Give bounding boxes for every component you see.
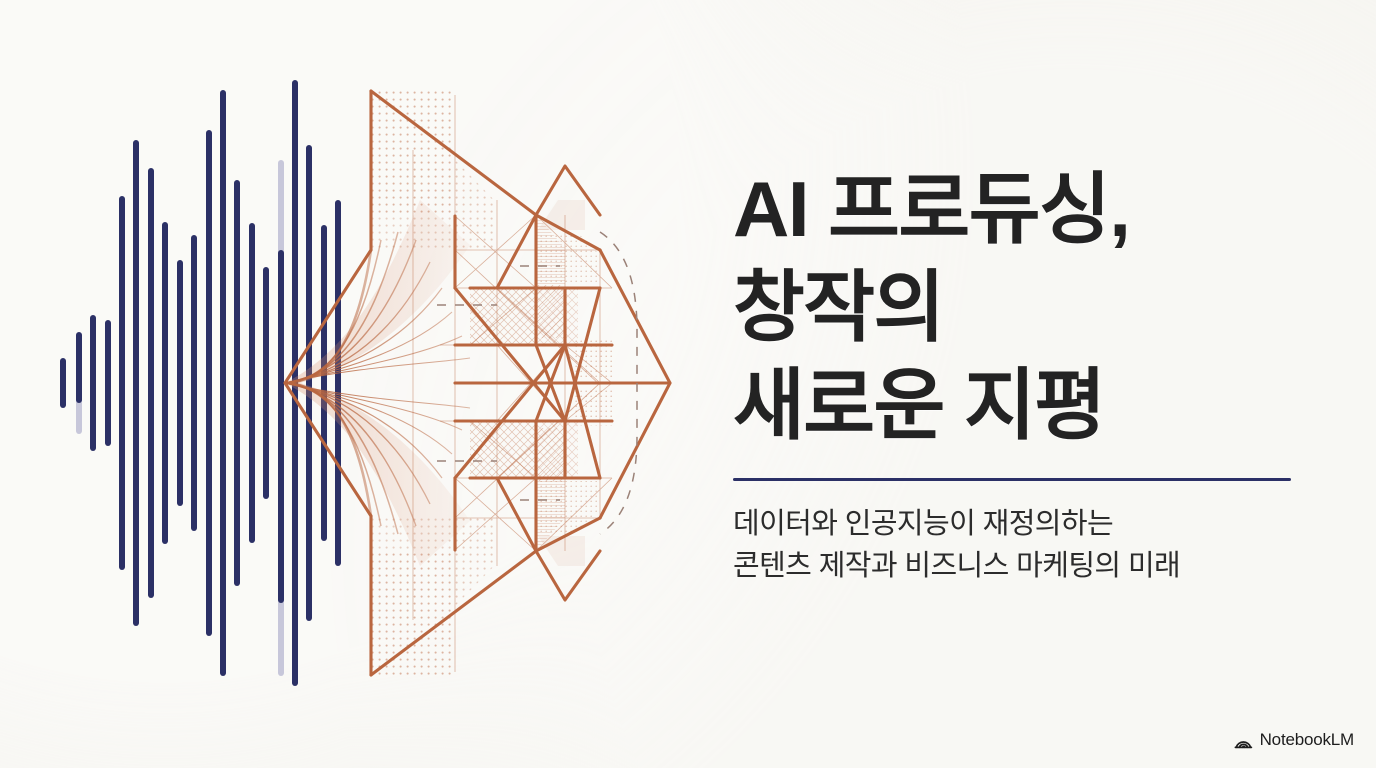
title-line-2: 창작의 [733, 258, 1333, 356]
geometric-lattice-icon [285, 91, 670, 675]
lattice-main-outline [285, 91, 670, 675]
subtitle-line-2: 콘텐츠 제작과 비즈니스 마케팅의 미래 [733, 545, 1333, 587]
artwork-panel [0, 0, 710, 768]
artwork-svg [0, 0, 710, 768]
title-slide: AI 프로듀싱, 창작의 새로운 지평 데이터와 인공지능이 재정의하는 콘텐츠… [0, 0, 1376, 768]
notebooklm-spiral-icon [1234, 732, 1253, 749]
title-line-1: AI 프로듀싱, [733, 160, 1333, 258]
title-divider [733, 478, 1291, 481]
lattice-texture-panels-upper [371, 91, 612, 378]
page-title: AI 프로듀싱, 창작의 새로운 지평 [733, 160, 1333, 454]
subtitle: 데이터와 인공지능이 재정의하는 콘텐츠 제작과 비즈니스 마케팅의 미래 [733, 503, 1333, 587]
title-line-3: 새로운 지평 [733, 356, 1333, 454]
brand-footer: NotebookLM [1234, 730, 1354, 750]
brand-name: NotebookLM [1260, 730, 1354, 750]
text-block: AI 프로듀싱, 창작의 새로운 지평 데이터와 인공지능이 재정의하는 콘텐츠… [733, 160, 1333, 587]
subtitle-line-1: 데이터와 인공지능이 재정의하는 [733, 503, 1333, 545]
